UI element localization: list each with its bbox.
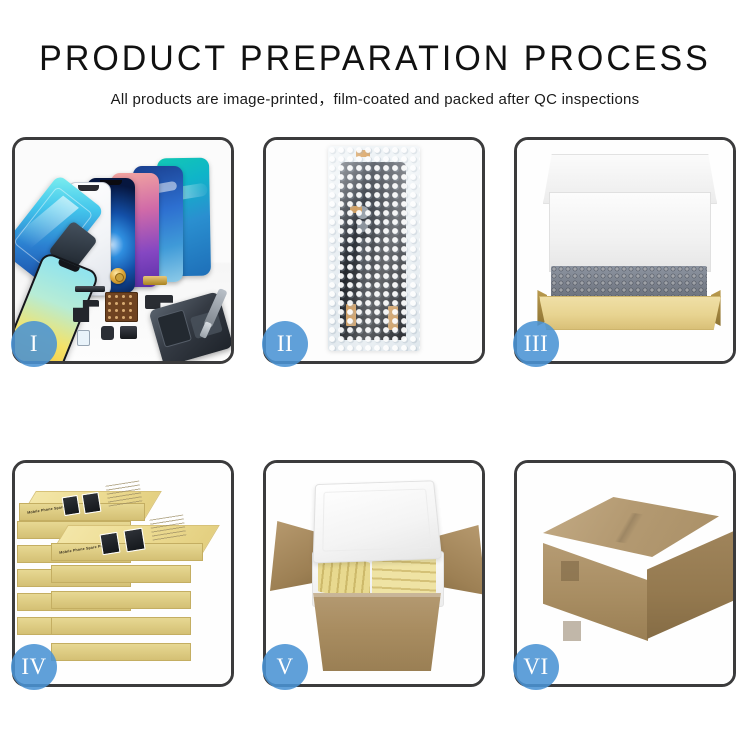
step-badge-4: IV: [11, 644, 57, 690]
grey-foam-padding: [551, 266, 707, 300]
box-back-wall: [549, 192, 711, 272]
page-subtitle: All products are image-printed，film-coat…: [0, 88, 750, 109]
retail-box: [51, 559, 189, 583]
battery-strip-part: [75, 286, 105, 292]
step-badge-1: I: [11, 321, 57, 367]
plastic-sheen: [328, 146, 420, 351]
box-product-window: [99, 532, 120, 556]
process-step-1: I: [12, 137, 234, 364]
process-step-3: III: [514, 137, 736, 364]
step-badge-5: V: [262, 644, 308, 690]
notch-icon: [78, 185, 99, 191]
box-front-wall: [539, 296, 721, 330]
retail-box: [51, 637, 189, 661]
process-step-5: V: [263, 460, 485, 687]
process-step-6: VI: [514, 460, 736, 687]
box-product-window: [82, 492, 102, 514]
process-step-grid: I II: [12, 137, 738, 687]
foam-lid: [313, 480, 443, 563]
gold-connector-part: [143, 276, 167, 285]
box-product-window: [123, 528, 145, 553]
bubble-wrap-bag: [328, 146, 420, 351]
box-product-window: [62, 495, 81, 516]
camera-module-part: [101, 326, 114, 340]
retail-box: [51, 611, 189, 635]
step-badge-6: VI: [513, 644, 559, 690]
step-badge-3: III: [513, 321, 559, 367]
vibration-motor-part: [110, 268, 126, 284]
product-preparation-infographic: PRODUCT PREPARATION PROCESS All products…: [0, 0, 750, 750]
process-step-4: Mobile Phone Spare Parts Mobile Phone Sp…: [12, 460, 234, 687]
carton-handle-tab: [563, 621, 581, 641]
retail-box-group-right: [372, 555, 436, 599]
carton-handle-tab: [561, 561, 579, 581]
step-badge-2: II: [262, 321, 308, 367]
carton-body: [306, 593, 448, 671]
process-step-2: II: [263, 137, 485, 364]
retail-box: [51, 585, 189, 609]
header: PRODUCT PREPARATION PROCESS All products…: [0, 0, 750, 109]
page-title: PRODUCT PREPARATION PROCESS: [11, 38, 739, 80]
speaker-module-part: [120, 326, 137, 339]
logic-board-part: [105, 292, 138, 322]
sim-tray-part: [77, 330, 90, 346]
